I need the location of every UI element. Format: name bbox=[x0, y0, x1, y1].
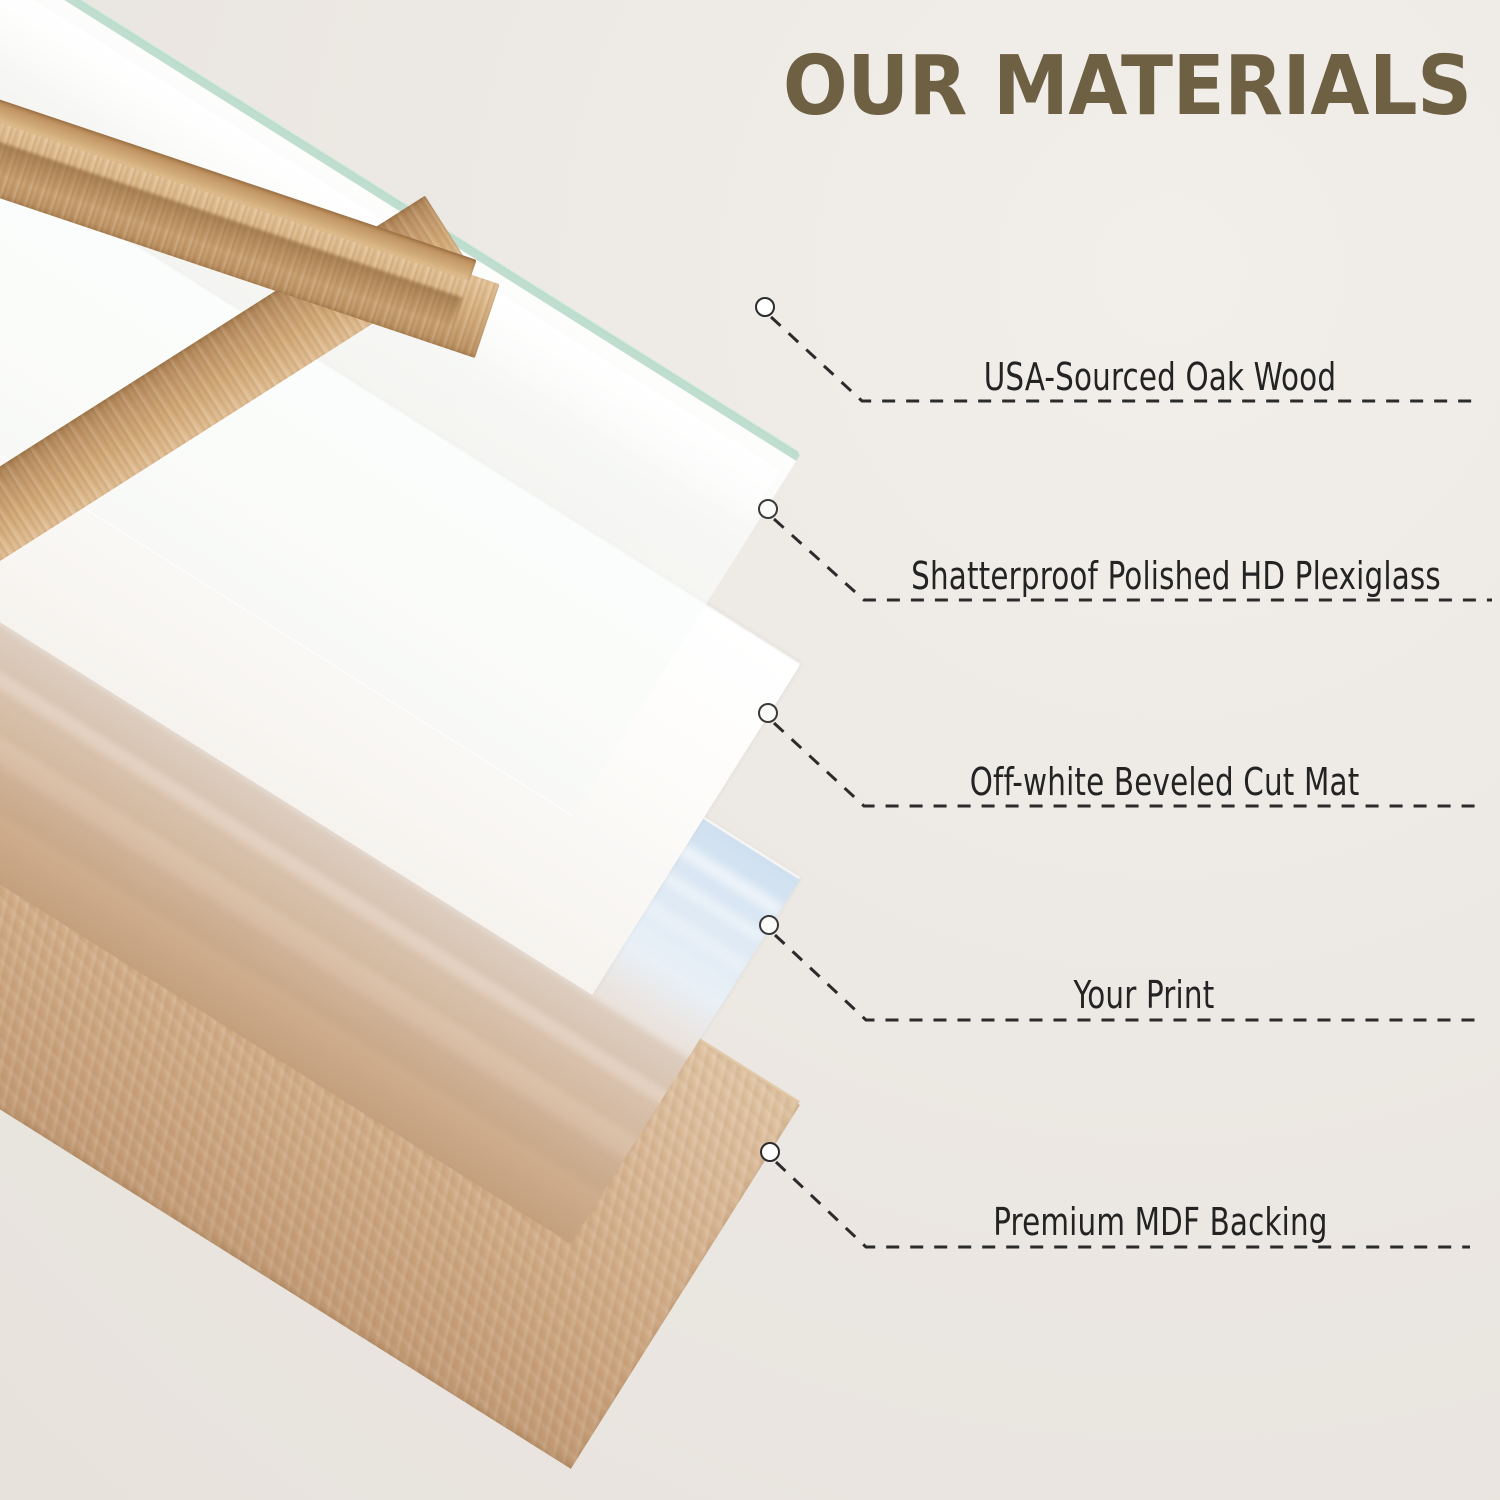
callout-label-mat: Off-white Beveled Cut Mat bbox=[970, 760, 1360, 804]
callout-label-oak-wood: USA-Sourced Oak Wood bbox=[984, 355, 1336, 399]
oak-frame-layer bbox=[0, 0, 860, 710]
callout-marker-mat[interactable] bbox=[758, 703, 778, 723]
callout-marker-print[interactable] bbox=[759, 915, 779, 935]
callout-label-print: Your Print bbox=[1073, 973, 1214, 1017]
callout-marker-mdf[interactable] bbox=[760, 1142, 780, 1162]
callout-marker-plexiglass[interactable] bbox=[758, 499, 778, 519]
product-exploded-view bbox=[0, 0, 880, 1500]
callout-label-plexiglass: Shatterproof Polished HD Plexiglass bbox=[911, 554, 1441, 598]
page-title: OUR MATERIALS bbox=[783, 46, 1472, 128]
callout-marker-oak-wood[interactable] bbox=[755, 297, 775, 317]
infographic-canvas: OUR MATERIALS USA-Sourced Oak WoodShatte… bbox=[0, 0, 1500, 1500]
callout-label-mdf: Premium MDF Backing bbox=[993, 1200, 1327, 1244]
